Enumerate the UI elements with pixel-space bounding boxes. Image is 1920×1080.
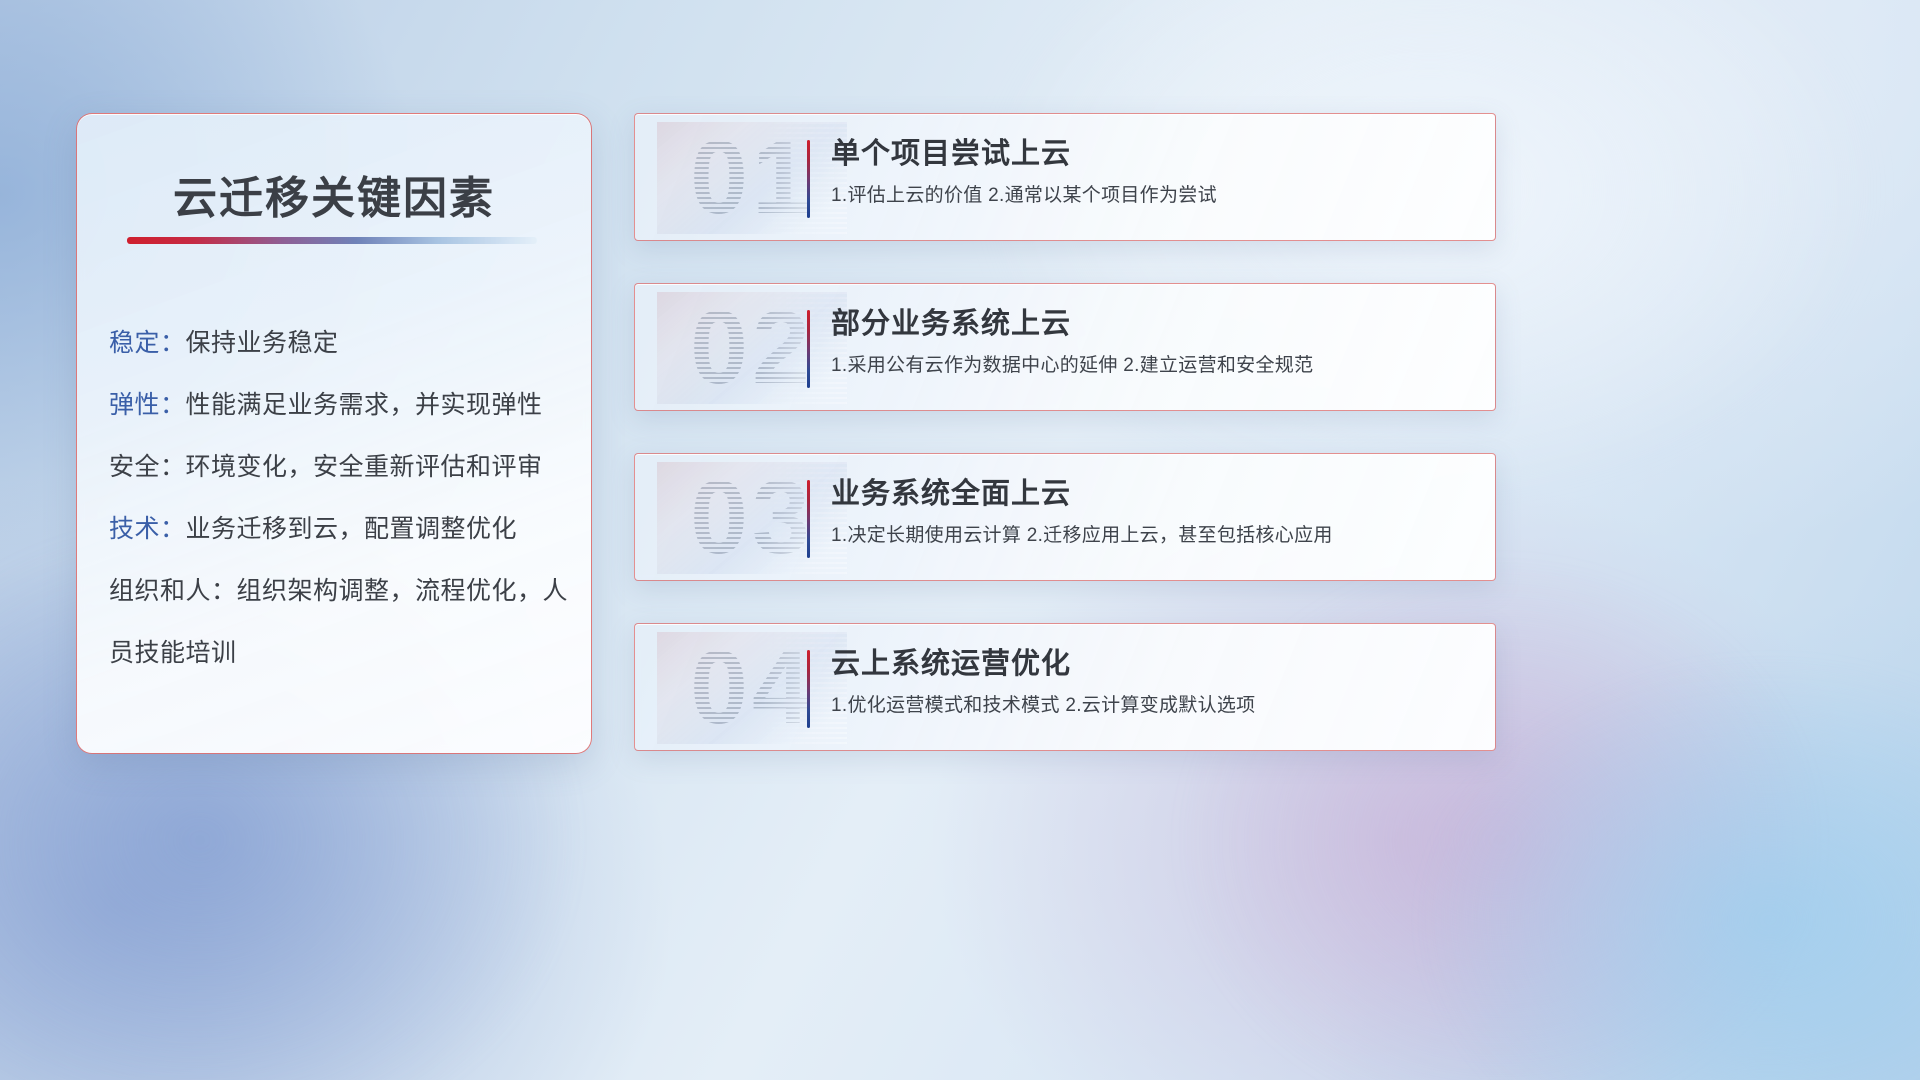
stage-card-title: 单个项目尝试上云 <box>831 132 1475 176</box>
key-factor-row: 稳定：保持业务稳定 <box>109 312 573 374</box>
migration-stage-card[interactable]: 04云上系统运营优化1.优化运营模式和技术模式 2.云计算变成默认选项 <box>634 623 1496 751</box>
key-factors-panel: 云迁移关键因素 稳定：保持业务稳定弹性：性能满足业务需求，并实现弹性安全：环境变… <box>76 113 592 754</box>
stage-divider-accent <box>807 140 810 218</box>
stage-card-title: 业务系统全面上云 <box>831 472 1475 516</box>
stage-card-body: 业务系统全面上云1.决定长期使用云计算 2.迁移应用上云，甚至包括核心应用 <box>831 472 1475 550</box>
stage-divider-accent <box>807 310 810 388</box>
stage-card-title: 部分业务系统上云 <box>831 302 1475 346</box>
key-factor-row: 技术：业务迁移到云，配置调整优化 <box>109 498 573 560</box>
key-factor-label: 安全： <box>109 453 186 481</box>
key-factor-row: 弹性：性能满足业务需求，并实现弹性 <box>109 374 573 436</box>
stage-card-subtitle: 1.决定长期使用云计算 2.迁移应用上云，甚至包括核心应用 <box>831 522 1475 550</box>
stage-card-title: 云上系统运营优化 <box>831 642 1475 686</box>
stage-divider-accent <box>807 480 810 558</box>
key-factor-label: 弹性： <box>109 391 186 419</box>
migration-stage-card[interactable]: 02部分业务系统上云1.采用公有云作为数据中心的延伸 2.建立运营和安全规范 <box>634 283 1496 411</box>
key-factor-label: 技术： <box>109 515 186 543</box>
stage-number-watermark: 03 <box>657 462 847 574</box>
stage-card-body: 云上系统运营优化1.优化运营模式和技术模式 2.云计算变成默认选项 <box>831 642 1475 720</box>
stage-card-body: 单个项目尝试上云1.评估上云的价值 2.通常以某个项目作为尝试 <box>831 132 1475 210</box>
stage-number-watermark: 02 <box>657 292 847 404</box>
migration-stage-card[interactable]: 01单个项目尝试上云1.评估上云的价值 2.通常以某个项目作为尝试 <box>634 113 1496 241</box>
key-factor-text: 业务迁移到云，配置调整优化 <box>186 515 518 543</box>
key-factor-list: 稳定：保持业务稳定弹性：性能满足业务需求，并实现弹性安全：环境变化，安全重新评估… <box>109 312 573 684</box>
migration-stage-card-list: 01单个项目尝试上云1.评估上云的价值 2.通常以某个项目作为尝试02部分业务系… <box>634 113 1496 751</box>
key-factor-label: 组织和人： <box>109 577 237 605</box>
migration-stage-card[interactable]: 03业务系统全面上云1.决定长期使用云计算 2.迁移应用上云，甚至包括核心应用 <box>634 453 1496 581</box>
stage-number-watermark: 01 <box>657 122 847 234</box>
slide-canvas: 云迁移关键因素 稳定：保持业务稳定弹性：性能满足业务需求，并实现弹性安全：环境变… <box>0 0 1920 1080</box>
stage-divider-accent <box>807 650 810 728</box>
stage-card-subtitle: 1.采用公有云作为数据中心的延伸 2.建立运营和安全规范 <box>831 352 1475 380</box>
stage-card-subtitle: 1.评估上云的价值 2.通常以某个项目作为尝试 <box>831 182 1475 210</box>
key-factor-label: 稳定： <box>109 329 186 357</box>
key-factor-row: 安全：环境变化，安全重新评估和评审 <box>109 436 573 498</box>
stage-card-subtitle: 1.优化运营模式和技术模式 2.云计算变成默认选项 <box>831 692 1475 720</box>
title-underline-accent <box>127 237 537 244</box>
stage-card-body: 部分业务系统上云1.采用公有云作为数据中心的延伸 2.建立运营和安全规范 <box>831 302 1475 380</box>
page-title: 云迁移关键因素 <box>77 162 591 226</box>
key-factor-row: 组织和人：组织架构调整，流程优化，人员技能培训 <box>109 560 573 684</box>
stage-number-watermark: 04 <box>657 632 847 744</box>
key-factor-text: 环境变化，安全重新评估和评审 <box>186 453 543 481</box>
key-factor-text: 保持业务稳定 <box>186 329 339 357</box>
key-factor-text: 性能满足业务需求，并实现弹性 <box>186 391 543 419</box>
